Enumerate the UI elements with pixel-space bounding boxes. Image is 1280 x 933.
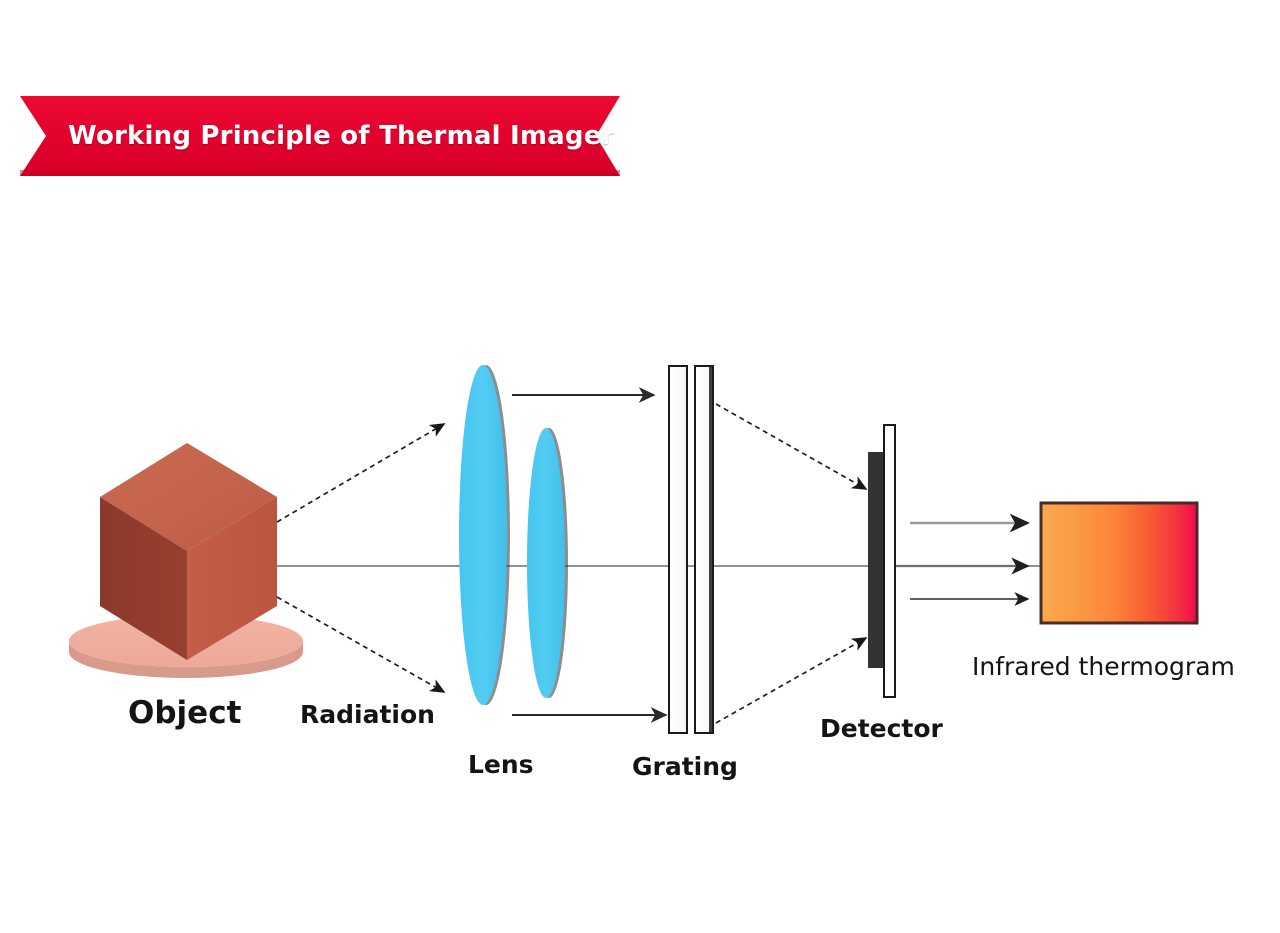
slide-canvas: Working Principle of Thermal Imager bbox=[0, 0, 1280, 933]
label-infrared-thermogram: Infrared thermogram bbox=[972, 652, 1235, 681]
ray-grating-detector-bottom bbox=[716, 638, 866, 723]
label-radiation: Radiation bbox=[300, 700, 435, 729]
grating-group bbox=[669, 366, 713, 733]
optical-diagram bbox=[0, 0, 1280, 933]
label-lens: Lens bbox=[468, 750, 534, 779]
detector-plate bbox=[884, 425, 895, 697]
lens-1-body bbox=[459, 365, 507, 705]
detector-sensor bbox=[868, 452, 883, 668]
ray-object-lens-top bbox=[277, 424, 444, 522]
thermogram-image bbox=[1041, 503, 1197, 623]
label-object: Object bbox=[128, 695, 241, 731]
object-group bbox=[69, 443, 303, 678]
lens-group bbox=[459, 365, 568, 705]
grating-plate-1 bbox=[669, 366, 687, 733]
label-detector: Detector bbox=[820, 714, 943, 743]
grating-plate-2-bevel bbox=[709, 366, 713, 733]
label-grating: Grating bbox=[632, 752, 738, 781]
ray-grating-detector-top bbox=[716, 404, 866, 489]
thermogram-group bbox=[1041, 503, 1197, 623]
lens-2-body bbox=[527, 428, 565, 698]
detector-group bbox=[868, 425, 895, 697]
